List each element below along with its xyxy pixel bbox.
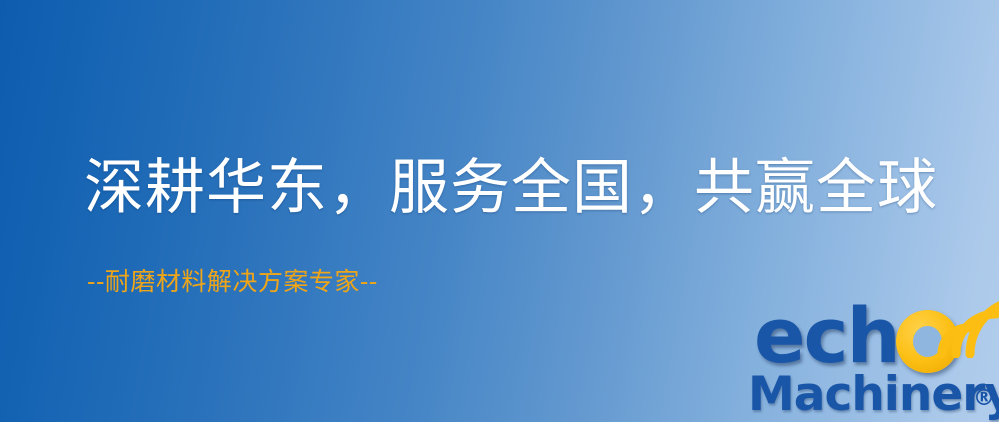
hero-banner: 深耕华东，服务全国，共赢全球 --耐磨材料解决方案专家-- ech Machin… [0,0,999,422]
registered-trademark-icon: ® [973,388,995,410]
echo-waves-icon [936,292,999,358]
logo-text-ech: ech [754,298,899,374]
logo-text-machinery: Machinery [748,370,999,420]
banner-subtitle: --耐磨材料解决方案专家-- [87,264,378,300]
company-logo[interactable]: ech Machinery ® [748,296,999,422]
banner-headline: 深耕华东，服务全国，共赢全球 [84,148,938,228]
